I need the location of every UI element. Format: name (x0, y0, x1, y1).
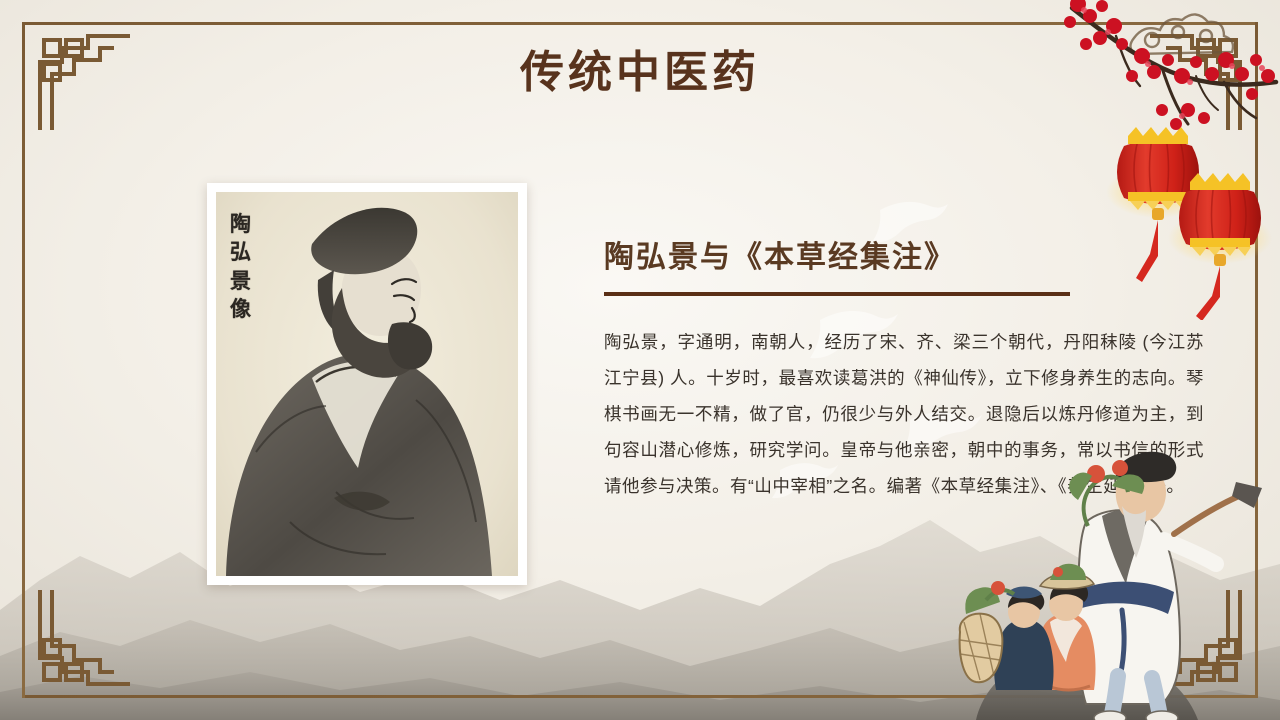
body-paragraph: 陶弘景，字通明，南朝人，经历了宋、齐、梁三个朝代，丹阳秣陵 (今江苏江宁县) 人… (604, 324, 1204, 504)
slide-canvas: 传统中医药 (0, 0, 1280, 720)
frame-line-left (22, 22, 25, 698)
content-block: 陶弘景与《本草经集注》 陶弘景，字通明，南朝人，经历了宋、齐、梁三个朝代，丹阳秣… (604, 238, 1208, 522)
fret-corner-icon-bottom-right (1150, 590, 1262, 702)
frame-line-bottom (22, 695, 1258, 698)
heading-underline (604, 292, 1070, 296)
portrait-caption: 陶弘景像 (230, 210, 264, 323)
portrait-card: 陶弘景像 (207, 183, 527, 585)
page-title: 传统中医药 (0, 36, 1280, 100)
portrait-image: 陶弘景像 (216, 192, 518, 576)
frame-line-top (22, 22, 1258, 25)
section-heading: 陶弘景与《本草经集注》 (604, 238, 1208, 277)
frame-line-right (1255, 22, 1258, 698)
fret-corner-icon-bottom-left (18, 590, 130, 702)
